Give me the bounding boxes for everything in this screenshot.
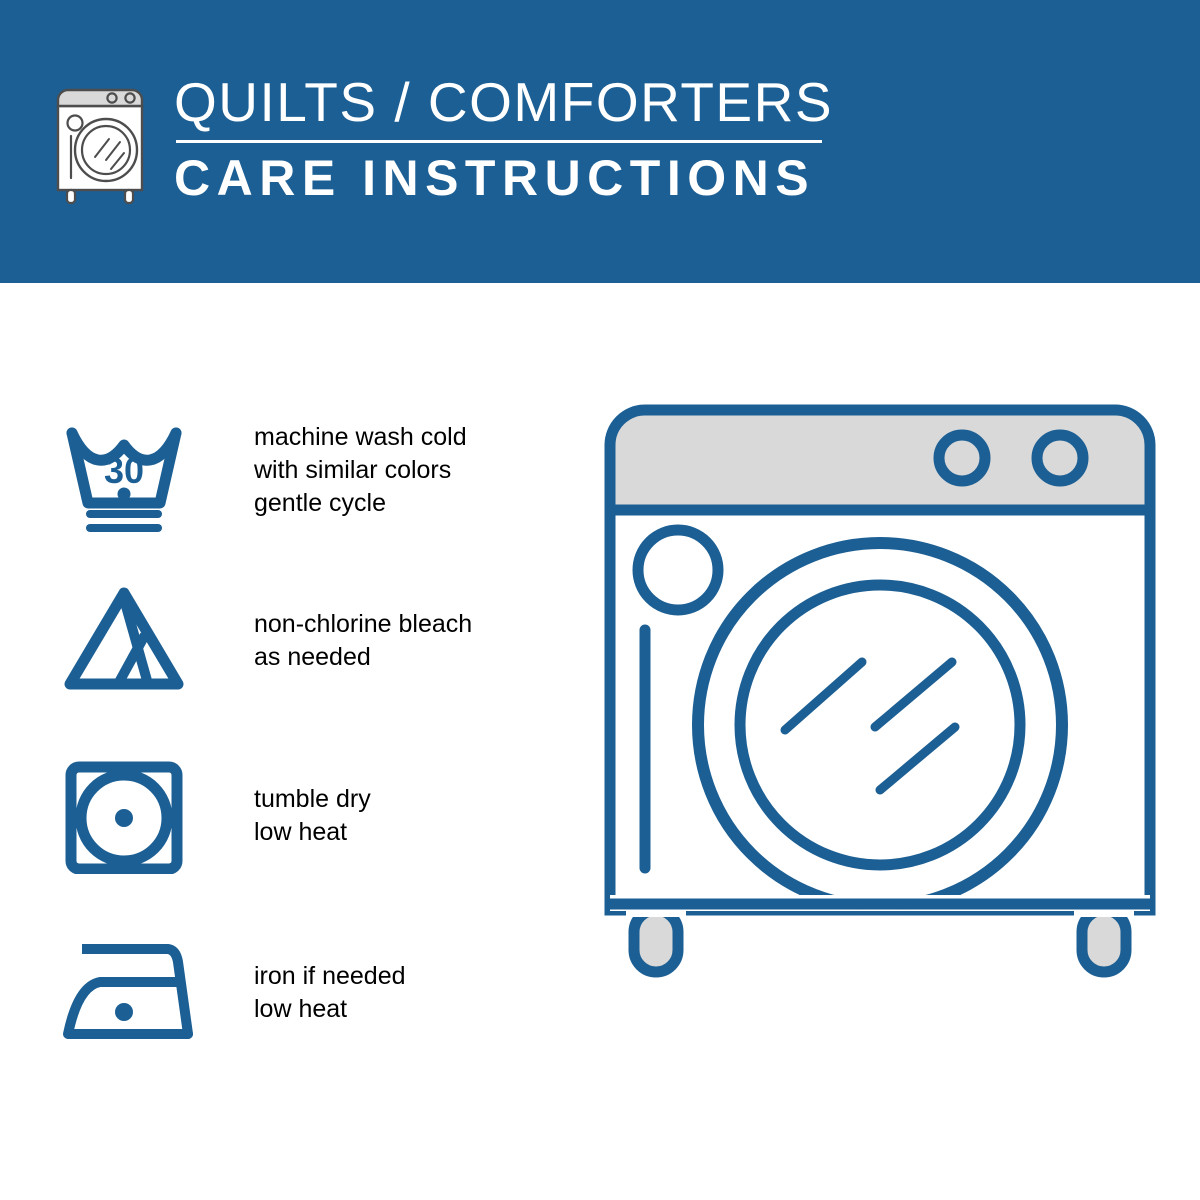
leg-left bbox=[634, 910, 678, 972]
care-text-line: gentle cycle bbox=[254, 487, 467, 520]
care-text-line: low heat bbox=[254, 816, 371, 849]
control-panel bbox=[610, 410, 1150, 510]
care-text-line: iron if needed bbox=[254, 960, 406, 993]
care-text-line: with similar colors bbox=[254, 454, 467, 487]
care-text-line: tumble dry bbox=[254, 783, 371, 816]
care-text-line: as needed bbox=[254, 641, 472, 674]
care-text-line: non-chlorine bleach bbox=[254, 608, 472, 641]
care-row-iron: iron if needed low heat bbox=[60, 930, 540, 1105]
care-text-line: machine wash cold bbox=[254, 421, 467, 454]
header-content: QUILTS / COMFORTERS CARE INSTRUCTIONS bbox=[52, 78, 833, 213]
care-row-wash: 30 machine wash cold with similar colors… bbox=[60, 405, 540, 580]
tumble-dry-low-icon bbox=[60, 755, 210, 879]
care-text-tumble-dry: tumble dry low heat bbox=[254, 755, 371, 849]
header-banner: QUILTS / COMFORTERS CARE INSTRUCTIONS bbox=[0, 0, 1200, 283]
care-text-wash: machine wash cold with similar colors ge… bbox=[254, 405, 467, 520]
care-instructions-card: QUILTS / COMFORTERS CARE INSTRUCTIONS 30 bbox=[0, 0, 1200, 1200]
care-row-bleach: non-chlorine bleach as needed bbox=[60, 580, 540, 755]
leg-right bbox=[1082, 910, 1126, 972]
care-instruction-list: 30 machine wash cold with similar colors… bbox=[60, 405, 540, 1105]
non-chlorine-bleach-triangle-icon bbox=[60, 580, 210, 705]
wash-temperature-label: 30 bbox=[104, 450, 144, 491]
washer-body bbox=[610, 510, 1150, 910]
care-text-iron: iron if needed low heat bbox=[254, 930, 406, 1026]
title-divider bbox=[176, 140, 822, 143]
iron-low-heat-icon bbox=[60, 930, 210, 1056]
care-text-bleach: non-chlorine bleach as needed bbox=[254, 580, 472, 674]
care-text-line: low heat bbox=[254, 993, 406, 1026]
care-row-tumble-dry: tumble dry low heat bbox=[60, 755, 540, 930]
page-subtitle: CARE INSTRUCTIONS bbox=[174, 149, 833, 207]
front-load-washing-machine-illustration bbox=[590, 390, 1170, 1130]
wash-tub-30-gentle-icon: 30 bbox=[60, 405, 210, 541]
header-title-group: QUILTS / COMFORTERS CARE INSTRUCTIONS bbox=[174, 72, 833, 207]
page-title: QUILTS / COMFORTERS bbox=[174, 72, 833, 132]
washing-machine-icon bbox=[52, 78, 156, 210]
